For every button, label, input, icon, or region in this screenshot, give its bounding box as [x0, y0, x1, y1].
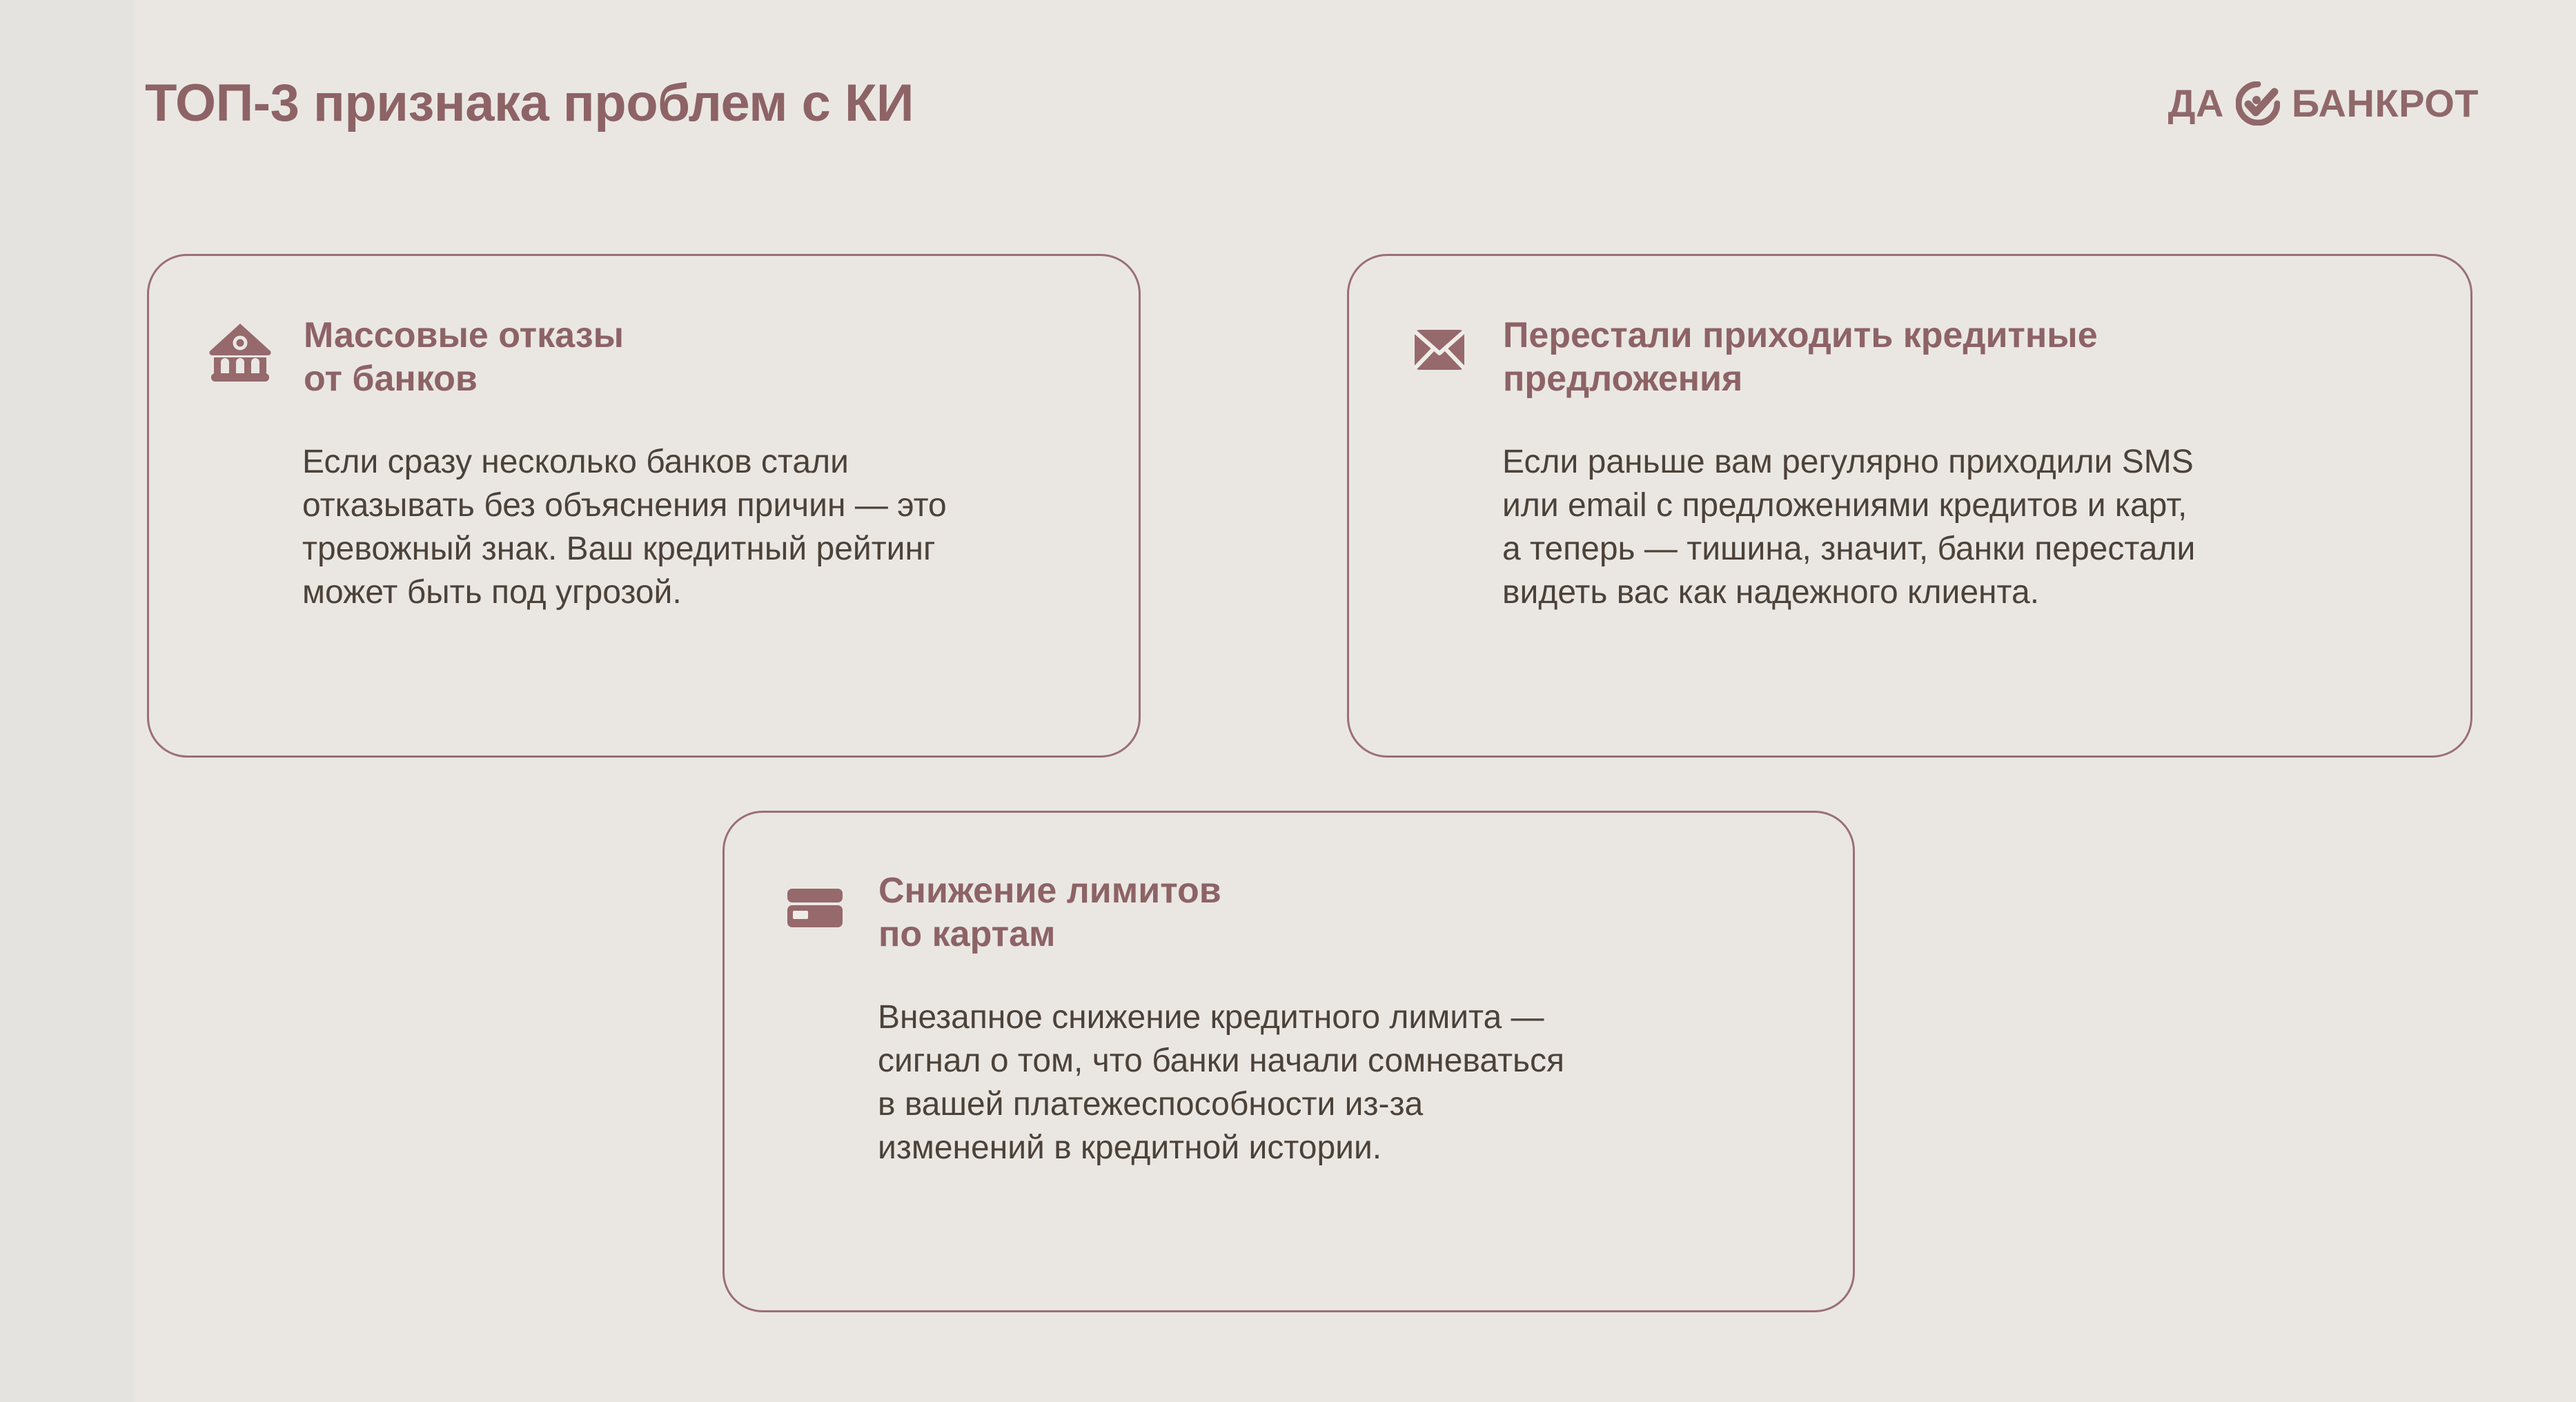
sign-card-mass-rejections: Массовые отказы от банков Если сразу нес…	[147, 254, 1141, 758]
card-header: Снижение лимитов по картам	[782, 868, 1221, 957]
brand-name: БАНКРОТ	[2292, 84, 2479, 123]
card-title: Снижение лимитов по картам	[878, 868, 1221, 957]
sign-card-no-credit-offers: Перестали приходить кредитные предложени…	[1347, 254, 2472, 758]
header: ТОП-3 признака проблем с КИ ДА БАНКРОТ	[145, 66, 2491, 156]
sign-card-limit-reduction: Снижение лимитов по картам Внезапное сни…	[722, 811, 1855, 1312]
slide-canvas: ТОП-3 признака проблем с КИ ДА БАНКРОТ	[0, 0, 2576, 1402]
card-title: Массовые отказы от банков	[304, 313, 624, 402]
card-body-text: Если сразу несколько банков стали отказы…	[302, 441, 1110, 615]
brand-logo: ДА БАНКРОТ	[2168, 79, 2479, 128]
envelope-icon	[1406, 317, 1473, 383]
card-header: Перестали приходить кредитные предложени…	[1406, 313, 2098, 402]
card-title: Перестали приходить кредитные предложени…	[1503, 313, 2098, 402]
circle-check-icon	[2236, 81, 2280, 126]
card-body-text: Внезапное снижение кредитного лимита — с…	[878, 996, 1823, 1170]
credit-card-icon	[782, 872, 848, 938]
card-header: Массовые отказы от банков	[207, 313, 624, 402]
bank-building-icon	[207, 317, 273, 383]
brand-prefix: ДА	[2168, 84, 2224, 123]
page-title: ТОП-3 признака проблем с КИ	[145, 73, 914, 133]
card-body-text: Если раньше вам регулярно приходили SMS …	[1502, 441, 2448, 615]
